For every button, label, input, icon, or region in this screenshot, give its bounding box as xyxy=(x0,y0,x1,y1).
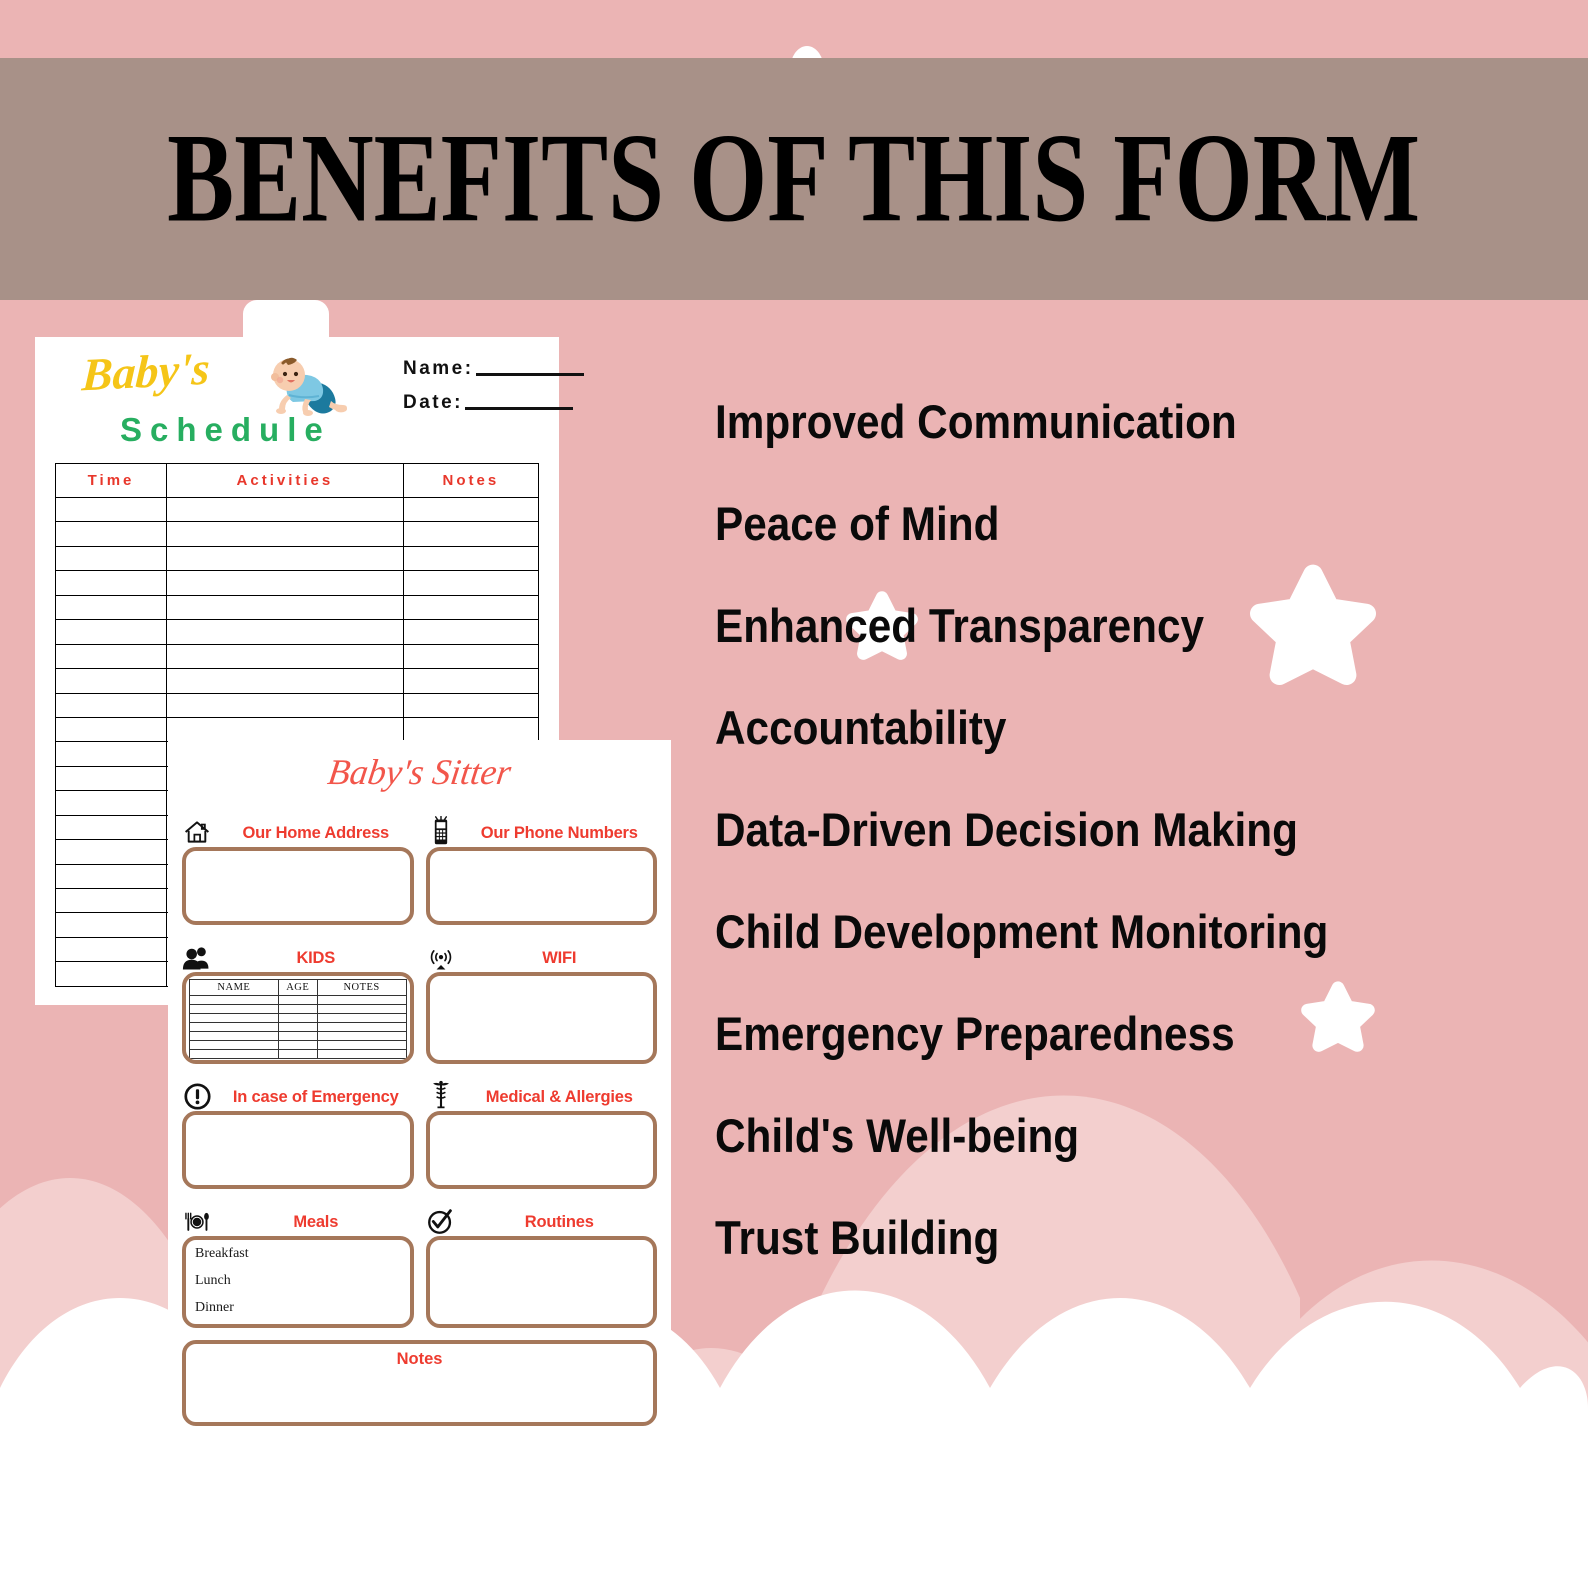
meals-input[interactable]: BreakfastLunchDinnerSnacks xyxy=(182,1236,414,1328)
caduceus-icon xyxy=(426,1080,456,1110)
table-row[interactable] xyxy=(56,620,539,644)
schedule-title-schedule: Schedule xyxy=(120,413,331,446)
table-header-row: Time Activities Notes xyxy=(56,464,539,498)
kids-table-row[interactable] xyxy=(190,1032,407,1041)
section-emergency: In case of Emergency xyxy=(182,1076,414,1189)
poster-canvas: BENEFITS OF THIS FORM Improved Communica… xyxy=(0,0,1588,1588)
kids-table: NAME AGE NOTES xyxy=(189,979,407,1059)
table-row[interactable] xyxy=(56,644,539,668)
section-label: Our Home Address xyxy=(218,825,414,847)
meals-list: BreakfastLunchDinnerSnacks xyxy=(186,1240,410,1328)
sitter-row-2: KIDS NAME AGE NOTES xyxy=(182,937,657,1064)
section-label: Medical & Allergies xyxy=(462,1089,658,1111)
kids-header-row: NAME AGE NOTES xyxy=(190,980,407,996)
benefit-item: Accountability xyxy=(715,704,1489,751)
benefit-item: Enhanced Transparency xyxy=(715,602,1489,649)
medical-allergies-input[interactable] xyxy=(426,1111,658,1189)
table-row[interactable] xyxy=(56,546,539,570)
sitter-sections-grid: Our Home Address xyxy=(182,812,657,1426)
babysitter-info-form: Baby's Sitter Our Home xyxy=(168,740,671,1430)
kids-table-body xyxy=(190,996,407,1059)
people-icon xyxy=(182,941,212,971)
meal-item[interactable]: Dinner xyxy=(195,1301,410,1315)
date-label: Date: xyxy=(403,393,463,412)
section-home-address: Our Home Address xyxy=(182,812,414,925)
house-icon xyxy=(182,816,212,846)
date-field-row: Date: xyxy=(403,393,573,412)
wifi-icon xyxy=(426,941,456,971)
schedule-title-babys: Baby's xyxy=(81,346,211,399)
sitter-form-title: Baby's Sitter xyxy=(165,754,673,790)
emergency-input[interactable] xyxy=(182,1111,414,1189)
kids-table-row[interactable] xyxy=(190,1014,407,1023)
benefit-item: Improved Communication xyxy=(715,398,1489,445)
benefit-item: Trust Building xyxy=(715,1214,1489,1261)
mobile-phone-icon xyxy=(426,816,456,846)
kids-table-row[interactable] xyxy=(190,1041,407,1050)
routines-input[interactable] xyxy=(426,1236,658,1328)
section-kids: KIDS NAME AGE NOTES xyxy=(182,937,414,1064)
section-label: WIFI xyxy=(462,950,658,972)
kids-column-age: AGE xyxy=(278,980,317,996)
section-label: Routines xyxy=(462,1214,658,1236)
sitter-row-1: Our Home Address xyxy=(182,812,657,925)
kids-table-row[interactable] xyxy=(190,1023,407,1032)
benefit-item: Child Development Monitoring xyxy=(715,908,1489,955)
notes-label: Notes xyxy=(186,1344,653,1369)
column-header-time: Time xyxy=(56,464,167,498)
kids-column-notes: NOTES xyxy=(317,980,406,996)
header-band: BENEFITS OF THIS FORM xyxy=(0,58,1588,300)
section-medical-allergies: Medical & Allergies xyxy=(426,1076,658,1189)
table-row[interactable] xyxy=(56,571,539,595)
table-row[interactable] xyxy=(56,693,539,717)
section-label: In case of Emergency xyxy=(218,1089,414,1111)
schedule-header: Baby's xyxy=(35,337,559,465)
sitter-row-4: Meals BreakfastLunchDinnerSnacks xyxy=(182,1201,657,1328)
sitter-row-5: Notes xyxy=(182,1340,657,1426)
sitter-row-3: In case of Emergency xyxy=(182,1076,657,1189)
section-label: Meals xyxy=(218,1214,414,1236)
table-row[interactable] xyxy=(56,669,539,693)
table-row[interactable] xyxy=(56,717,539,741)
kids-column-name: NAME xyxy=(190,980,279,996)
kids-table-box[interactable]: NAME AGE NOTES xyxy=(182,972,414,1064)
kids-table-row[interactable] xyxy=(190,996,407,1005)
section-notes: Notes xyxy=(182,1340,657,1426)
check-circle-icon xyxy=(426,1205,456,1235)
meal-item[interactable]: Lunch xyxy=(195,1274,410,1288)
benefit-item: Peace of Mind xyxy=(715,500,1489,547)
benefits-list: Improved Communication Peace of Mind Enh… xyxy=(715,398,1575,1316)
table-row[interactable] xyxy=(56,498,539,522)
table-row[interactable] xyxy=(56,595,539,619)
section-routines: Routines xyxy=(426,1201,658,1328)
name-field-row: Name: xyxy=(403,359,584,378)
section-label: KIDS xyxy=(218,950,414,972)
date-input-line[interactable] xyxy=(465,407,573,410)
notes-input[interactable]: Notes xyxy=(182,1340,657,1426)
benefit-item: Data-Driven Decision Making xyxy=(715,806,1489,853)
benefit-item: Emergency Preparedness xyxy=(715,1010,1489,1057)
phone-numbers-input[interactable] xyxy=(426,847,658,925)
column-header-activities: Activities xyxy=(167,464,404,498)
section-wifi: WIFI xyxy=(426,937,658,1064)
name-label: Name: xyxy=(403,359,474,378)
section-meals: Meals BreakfastLunchDinnerSnacks xyxy=(182,1201,414,1328)
home-address-input[interactable] xyxy=(182,847,414,925)
page-title: BENEFITS OF THIS FORM xyxy=(168,115,1421,242)
name-input-line[interactable] xyxy=(476,373,584,376)
cutlery-plate-icon xyxy=(182,1205,212,1235)
kids-table-row[interactable] xyxy=(190,1050,407,1059)
benefit-item: Child's Well-being xyxy=(715,1112,1489,1159)
section-phone-numbers: Our Phone Numbers xyxy=(426,812,658,925)
section-label: Our Phone Numbers xyxy=(462,825,658,847)
exclamation-circle-icon xyxy=(182,1080,212,1110)
table-row[interactable] xyxy=(56,522,539,546)
wifi-input[interactable] xyxy=(426,972,658,1064)
kids-table-row[interactable] xyxy=(190,1005,407,1014)
schedule-paper-tab xyxy=(243,300,329,340)
column-header-notes: Notes xyxy=(403,464,538,498)
meal-item[interactable]: Breakfast xyxy=(195,1247,410,1261)
